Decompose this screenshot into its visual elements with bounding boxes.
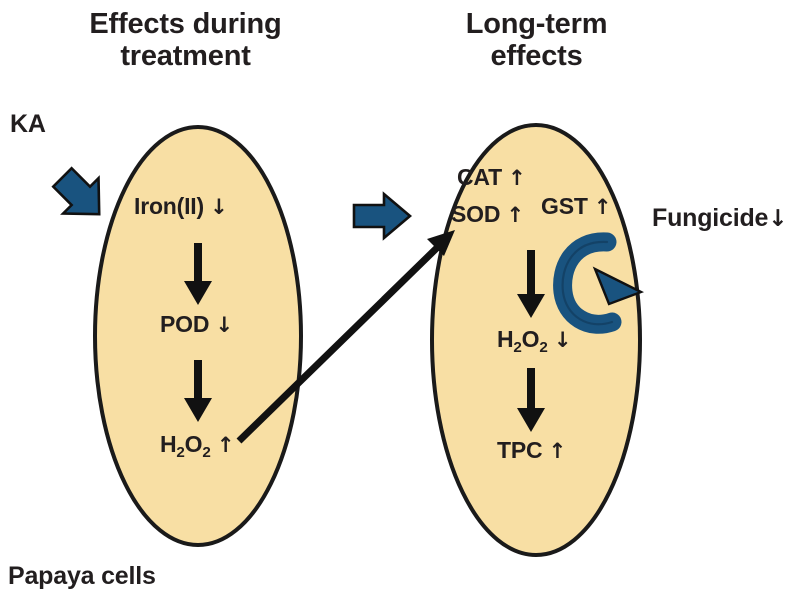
- node-h2o2-left-o-sub: 2: [202, 444, 210, 461]
- node-h2o2-left: H2O2 ↑: [160, 432, 234, 461]
- ka-input-text: KA: [10, 110, 46, 138]
- node-cat-direction-icon: ↑: [508, 165, 526, 190]
- node-sod-direction-icon: ↑: [506, 202, 524, 227]
- node-tpc: TPC ↑: [497, 438, 566, 464]
- papaya-cells-text: Papaya cells: [8, 562, 156, 590]
- node-gst-text: GST: [541, 193, 588, 219]
- node-h2o2-left-o: O: [185, 431, 203, 457]
- node-tpc-text: TPC: [497, 437, 542, 463]
- left-panel-title: Effects during treatment: [63, 8, 308, 73]
- node-pod-text: POD: [160, 311, 209, 337]
- node-h2o2-left-direction-icon: ↑: [217, 432, 235, 457]
- left-panel-title-line2: treatment: [63, 40, 308, 72]
- node-h2o2-right-o-sub: 2: [539, 339, 547, 356]
- node-iron-ii: Iron(II) ↓: [134, 194, 228, 220]
- papaya-cells-caption: Papaya cells: [8, 562, 156, 590]
- node-sod: SOD ↑: [451, 202, 524, 228]
- node-cat-text: CAT: [457, 164, 502, 190]
- node-h2o2-left-h-sub: 2: [176, 444, 184, 461]
- fungicide-output-text: Fungicide: [652, 204, 768, 232]
- node-iron-ii-text: Iron(II): [134, 193, 204, 219]
- node-h2o2-left-h: H: [160, 431, 176, 457]
- cell-to-cell-arrow: [354, 194, 410, 238]
- node-pod: POD ↓: [160, 312, 233, 338]
- node-gst: GST ↑: [541, 194, 611, 220]
- right-panel-title-line1: Long-term: [424, 8, 649, 40]
- fungicide-output-label: Fungicide↓: [652, 204, 787, 233]
- diagram-canvas: Effects during treatment Long-term effec…: [0, 0, 798, 603]
- node-h2o2-right-direction-icon: ↓: [554, 327, 572, 352]
- node-h2o2-right-o: O: [522, 326, 540, 352]
- ka-input-arrow: [45, 160, 117, 232]
- fungicide-direction-icon: ↓: [768, 206, 787, 232]
- node-cat: CAT ↑: [457, 165, 526, 191]
- diagram-vector-layer: [0, 0, 798, 603]
- node-pod-direction-icon: ↓: [215, 312, 233, 337]
- node-tpc-direction-icon: ↑: [549, 438, 567, 463]
- ka-input-label: KA: [10, 110, 46, 138]
- node-gst-direction-icon: ↑: [594, 194, 612, 219]
- node-h2o2-right-h-sub: 2: [513, 339, 521, 356]
- right-panel-title-line2: effects: [424, 40, 649, 72]
- right-panel-title: Long-term effects: [424, 8, 649, 73]
- left-panel-title-line1: Effects during: [63, 8, 308, 40]
- node-h2o2-right: H2O2 ↓: [497, 327, 571, 356]
- node-h2o2-right-h: H: [497, 326, 513, 352]
- node-iron-ii-direction-icon: ↓: [210, 194, 228, 219]
- node-sod-text: SOD: [451, 201, 500, 227]
